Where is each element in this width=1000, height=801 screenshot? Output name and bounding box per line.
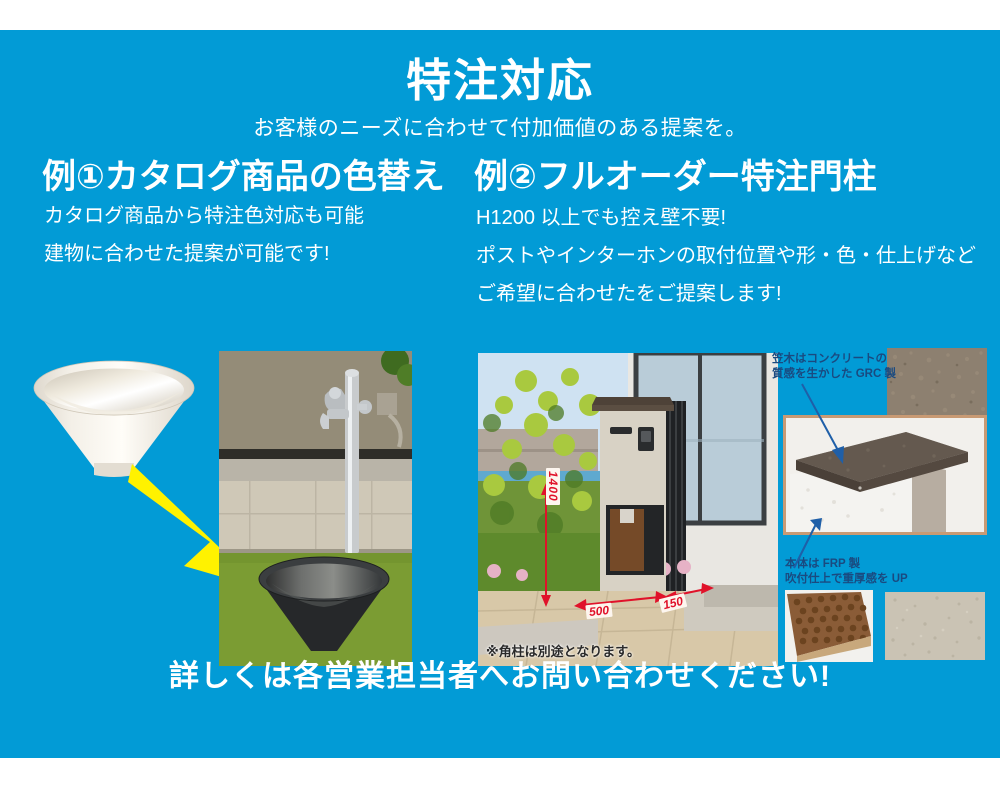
grc-cap-callout-line-1: 笠木はコンクリートの: [772, 352, 896, 367]
pillar-photo-caption: ※角柱は別途となります。: [486, 641, 640, 660]
example-1-line-2: 建物に合わせた提案が可能です!: [44, 244, 330, 264]
example-2-line-3: ご希望に合わせたをご提案します!: [476, 284, 782, 304]
page-subtitle: お客様のニーズに合わせて付加価値のある提案を。: [0, 118, 1000, 139]
footer-cta: 詳しくは各営業担当者へお問い合わせください!: [0, 662, 1000, 692]
example-1-line-1: カタログ商品から特注色対応も可能: [44, 206, 364, 226]
page-title: 特注対応: [0, 58, 1000, 103]
example-2-line-1: H1200 以上でも控え壁不要!: [476, 208, 726, 228]
grc-callout-arrow-icon: [800, 382, 860, 472]
poster-panel: 特注対応 お客様のニーズに合わせて付加価値のある提案を。 例①カタログ商品の色替…: [0, 30, 1000, 758]
dimension-label-width: 500: [585, 603, 612, 620]
example-1-heading: 例①カタログ商品の色替え: [42, 160, 445, 194]
grc-cap-callout-line-2: 質感を生かした GRC 製: [772, 367, 896, 382]
frp-callout-arrow-icon: [788, 518, 824, 570]
example-2-line-2: ポストやインターホンの取付位置や形・色・仕上げなど: [476, 246, 976, 266]
custom-gate-pillar-photo: ※角柱は別途となります。: [478, 353, 778, 666]
spray-finish-swatch: [885, 592, 985, 660]
frp-body-callout-line-2: 吹付仕上で重厚感を UP: [785, 572, 908, 587]
grc-cap-callout: 笠木はコンクリートの 質感を生かした GRC 製: [772, 352, 896, 382]
example-2-heading: 例②フルオーダー特注門柱: [474, 160, 877, 194]
garden-faucet-photo: [219, 351, 412, 666]
dimension-label-height: 1400: [546, 468, 560, 505]
grc-concrete-texture-swatch: [887, 348, 987, 420]
frp-honeycomb-core-swatch: [785, 590, 873, 662]
white-conical-basin-image: [30, 358, 198, 478]
